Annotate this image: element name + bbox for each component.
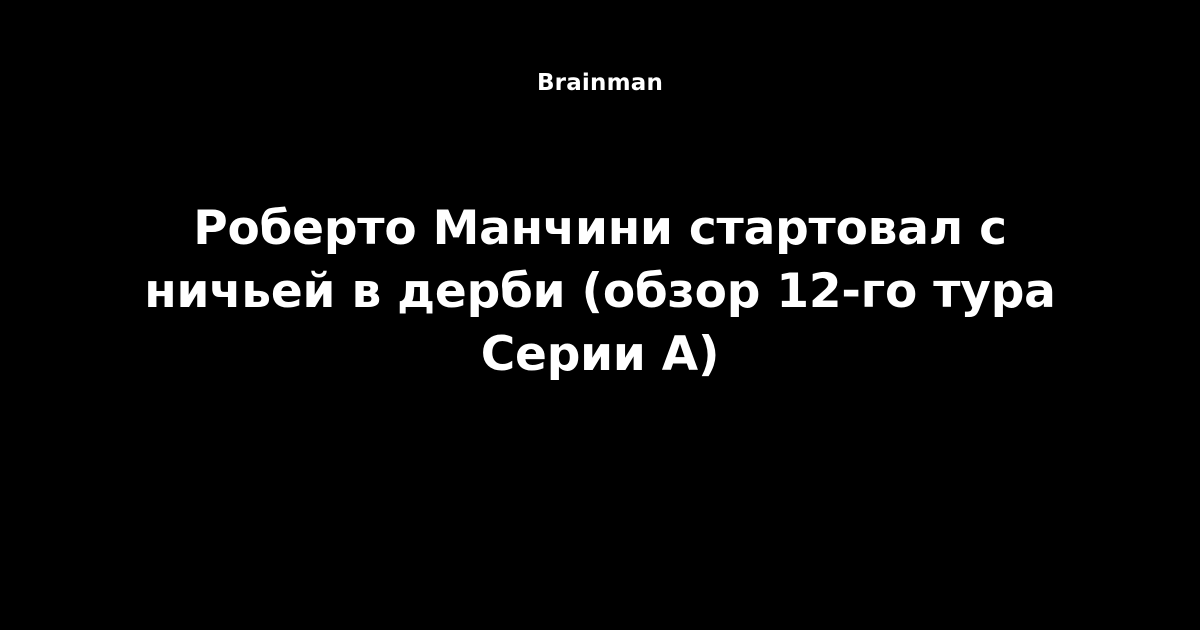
headline-block: Роберто Манчини стартовал с ничьей в дер… (100, 197, 1100, 386)
brand-row: Brainman (0, 70, 1200, 98)
open-graph-card: Brainman Роберто Манчини стартовал с нич… (0, 0, 1200, 630)
page-title: Роберто Манчини стартовал с ничьей в дер… (100, 197, 1100, 386)
brand-name: Brainman (537, 70, 663, 98)
